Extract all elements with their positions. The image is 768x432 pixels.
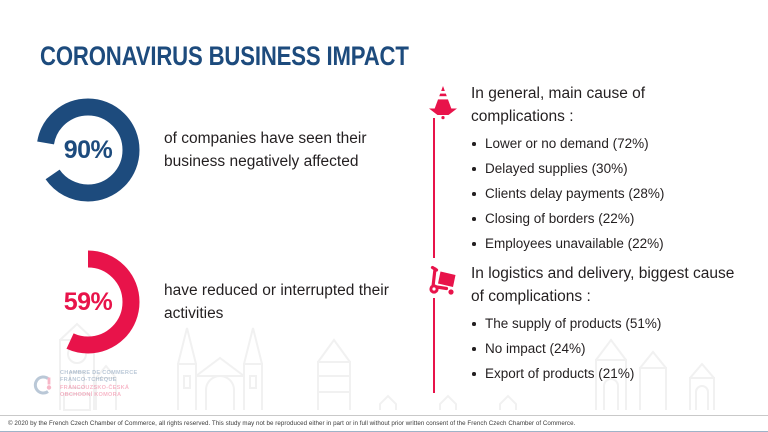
chamber-logo-text: CHAMBRE DE COMMERCE FRANCO-TCHÈQUE FRANC… — [60, 370, 137, 400]
slide-canvas: CORONAVIRUS BUSINESS IMPACT 90% of compa… — [0, 0, 768, 432]
list-item: The supply of products (51%) — [471, 311, 740, 336]
general-causes-block: In general, main cause of complications … — [424, 82, 740, 256]
stat-block-90: 90% of companies have seen their busines… — [34, 96, 402, 204]
list-item: No impact (24%) — [471, 336, 740, 361]
footer-divider — [0, 415, 768, 416]
donut-chart-icon: 90% — [34, 96, 142, 204]
stat-caption-90: of companies have seen their business ne… — [164, 127, 402, 173]
list-item: Employees unavailable (22%) — [471, 231, 740, 256]
accent-rail — [433, 298, 435, 393]
logistics-causes-block: In logistics and delivery, biggest cause… — [424, 262, 740, 386]
donut-chart-icon: 59% — [34, 248, 142, 356]
list-item: Delayed supplies (30%) — [471, 156, 740, 181]
general-causes-heading: In general, main cause of complications … — [471, 82, 740, 128]
list-item: Lower or no demand (72%) — [471, 131, 740, 156]
list-item: Closing of borders (22%) — [471, 206, 740, 231]
logo-line-2: FRANCO-TCHÈQUE — [60, 377, 137, 384]
chamber-logo-mark-icon — [32, 374, 54, 396]
general-causes-list: Lower or no demand (72%) Delayed supplie… — [424, 131, 740, 256]
accent-rail — [433, 118, 435, 258]
page-title: CORONAVIRUS BUSINESS IMPACT — [40, 41, 409, 71]
list-item: Export of products (21%) — [471, 361, 740, 386]
logistics-causes-heading: In logistics and delivery, biggest cause… — [471, 262, 740, 308]
list-item: Clients delay payments (28%) — [471, 181, 740, 206]
chamber-logo: CHAMBRE DE COMMERCE FRANCO-TCHÈQUE FRANC… — [32, 370, 137, 400]
stat-value-59: 59% — [34, 248, 142, 356]
logistics-causes-list: The supply of products (51%) No impact (… — [424, 311, 740, 386]
logo-line-4: OBCHODNÍ KOMORA — [60, 392, 137, 399]
stat-caption-59: have reduced or interrupted their activi… — [164, 279, 402, 325]
hand-truck-icon — [424, 262, 462, 300]
traffic-cone-icon — [424, 82, 462, 120]
stat-block-59: 59% have reduced or interrupted their ac… — [34, 248, 402, 356]
stat-value-90: 90% — [34, 96, 142, 204]
footer-copyright: © 2020 by the French Czech Chamber of Co… — [8, 418, 760, 429]
